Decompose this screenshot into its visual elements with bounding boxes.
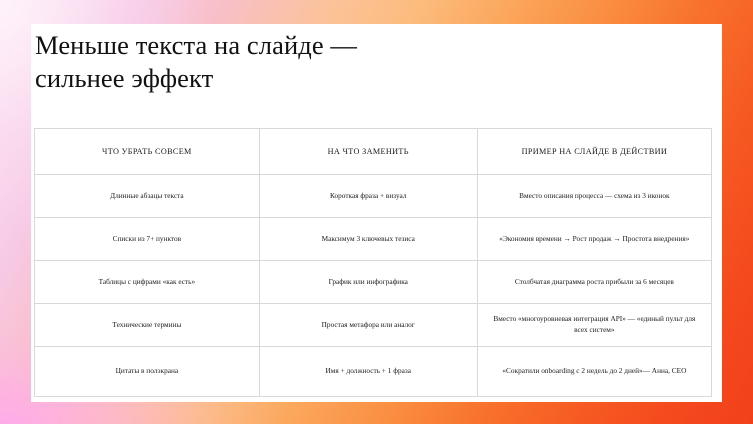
- table-row: Цитаты в полэкрана Имя + должность + 1 ф…: [35, 347, 712, 397]
- cell-remove: Длинные абзацы текста: [35, 175, 260, 218]
- page-title: Меньше текста на слайде — сильнее эффект: [35, 29, 555, 96]
- slide-canvas: Меньше текста на слайде — сильнее эффект…: [31, 24, 722, 402]
- column-header-replace: НА ЧТО ЗАМЕНИТЬ: [259, 129, 477, 175]
- comparison-table: ЧТО УБРАТЬ СОВСЕМ НА ЧТО ЗАМЕНИТЬ ПРИМЕР…: [34, 128, 712, 397]
- table-row: Таблицы с цифрами «как есть» График или …: [35, 261, 712, 304]
- cell-replace: Простая метафора или аналог: [259, 304, 477, 347]
- cell-replace: График или инфографика: [259, 261, 477, 304]
- cell-replace: Короткая фраза + визуал: [259, 175, 477, 218]
- column-header-remove: ЧТО УБРАТЬ СОВСЕМ: [35, 129, 260, 175]
- cell-remove: Списки из 7+ пунктов: [35, 218, 260, 261]
- cell-remove: Таблицы с цифрами «как есть»: [35, 261, 260, 304]
- cell-remove: Технические термины: [35, 304, 260, 347]
- column-header-example: ПРИМЕР НА СЛАЙДЕ В ДЕЙСТВИИ: [477, 129, 711, 175]
- cell-remove: Цитаты в полэкрана: [35, 347, 260, 397]
- table-header: ЧТО УБРАТЬ СОВСЕМ НА ЧТО ЗАМЕНИТЬ ПРИМЕР…: [35, 129, 712, 175]
- cell-example: «Сократили onboarding с 2 недель до 2 дн…: [477, 347, 711, 397]
- table-body: Длинные абзацы текста Короткая фраза + в…: [35, 175, 712, 397]
- cell-example: Вместо описания процесса — схема из 3 ик…: [477, 175, 711, 218]
- cell-replace: Имя + должность + 1 фраза: [259, 347, 477, 397]
- cell-example: Столбчатая диаграмма роста прибыли за 6 …: [477, 261, 711, 304]
- table-row: Списки из 7+ пунктов Максимум 3 ключевых…: [35, 218, 712, 261]
- comparison-table-container: ЧТО УБРАТЬ СОВСЕМ НА ЧТО ЗАМЕНИТЬ ПРИМЕР…: [34, 128, 712, 397]
- table-header-row: ЧТО УБРАТЬ СОВСЕМ НА ЧТО ЗАМЕНИТЬ ПРИМЕР…: [35, 129, 712, 175]
- cell-example: Вместо «многоуровневая интеграция API» —…: [477, 304, 711, 347]
- cell-example: «Экономия времени → Рост продаж → Просто…: [477, 218, 711, 261]
- table-row: Длинные абзацы текста Короткая фраза + в…: [35, 175, 712, 218]
- cell-replace: Максимум 3 ключевых тезиса: [259, 218, 477, 261]
- table-row: Технические термины Простая метафора или…: [35, 304, 712, 347]
